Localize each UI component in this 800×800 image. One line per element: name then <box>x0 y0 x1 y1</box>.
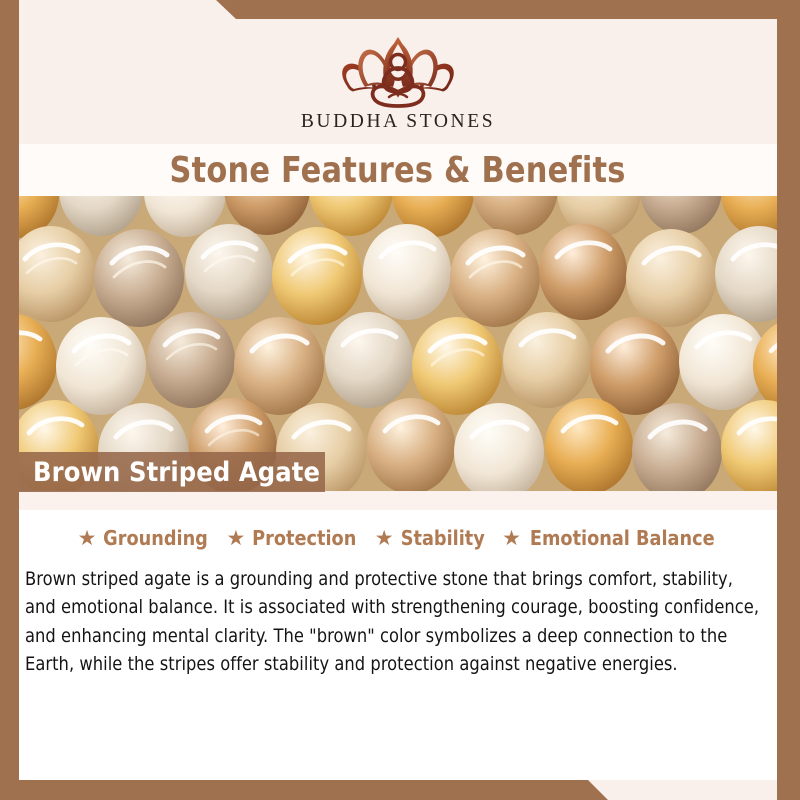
feature-item-emotional-balance: ★ Emotional Balance <box>502 526 718 550</box>
frame-border-left <box>0 0 19 800</box>
star-icon: ★ <box>375 528 394 549</box>
star-icon: ★ <box>226 528 245 549</box>
stone-name: Brown Striped Agate <box>19 457 320 488</box>
page-title: Stone Features & Benefits <box>170 150 626 191</box>
section-title-band: Stone Features & Benefits <box>19 144 777 196</box>
bead-photo-graphic <box>19 196 777 491</box>
feature-item-protection: ★ Protection <box>226 526 358 550</box>
frame-border-right <box>777 0 800 800</box>
stone-info-panel: ★ Grounding ★ Protection ★ Stability ★ E… <box>19 492 777 781</box>
brand-header: BUDDHA STONES <box>19 19 777 144</box>
feature-label: Stability <box>400 526 484 550</box>
star-icon: ★ <box>502 528 521 549</box>
star-icon: ★ <box>78 528 97 549</box>
feature-label: Emotional Balance <box>530 526 715 550</box>
panel-top-spacer <box>19 492 777 510</box>
feature-item-grounding: ★ Grounding <box>78 526 211 550</box>
panel-content: ★ Grounding ★ Protection ★ Stability ★ E… <box>19 510 777 781</box>
feature-label: Grounding <box>104 526 209 550</box>
frame-border-top <box>0 0 800 19</box>
poster-page: BUDDHA STONES Stone Features & Benefits <box>19 19 777 781</box>
feature-label: Protection <box>252 526 356 550</box>
feature-list: ★ Grounding ★ Protection ★ Stability ★ E… <box>19 510 777 550</box>
stone-description: Brown striped agate is a grounding and p… <box>25 566 760 679</box>
feature-item-stability: ★ Stability <box>375 526 486 550</box>
stone-name-banner: Brown Striped Agate <box>19 452 325 492</box>
poster-canvas: BUDDHA STONES Stone Features & Benefits <box>0 0 800 800</box>
lotus-meditation-figure-icon <box>313 27 483 109</box>
agate-beads-photo <box>19 196 777 491</box>
brand-name: BUDDHA STONES <box>301 111 495 133</box>
brand-logo: BUDDHA STONES <box>19 27 777 133</box>
